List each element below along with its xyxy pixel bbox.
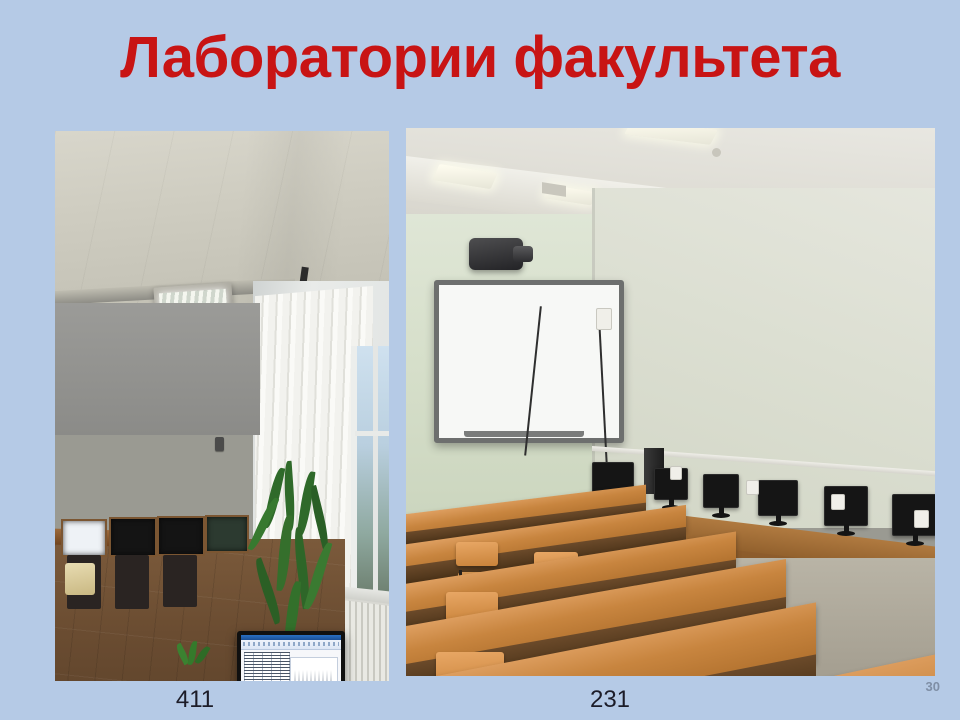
wall-outlet[interactable]	[596, 308, 612, 330]
whiteboard-pen-tray	[464, 431, 584, 437]
projector-lens-icon	[513, 246, 533, 262]
wall-monitor	[703, 474, 739, 508]
grey-wall	[55, 303, 260, 435]
wall-speaker-icon	[215, 437, 224, 451]
wall-outlet[interactable]	[831, 494, 845, 510]
photo-caption-231: 231	[406, 686, 814, 714]
back-row-chair	[115, 555, 149, 609]
short-throw-projector-icon	[469, 238, 523, 270]
ceiling	[55, 131, 389, 303]
slide-number: 30	[926, 679, 940, 694]
potted-plant	[251, 461, 361, 651]
wall-outlet[interactable]	[746, 480, 759, 495]
back-row-monitor	[61, 519, 107, 557]
spreadsheet-bar-chart	[290, 657, 338, 681]
wall-monitor	[758, 480, 798, 516]
back-row-monitor	[109, 517, 157, 557]
back-row-chair	[163, 555, 197, 607]
wall-outlet[interactable]	[670, 466, 682, 480]
monitor-screen	[241, 635, 341, 681]
photo-lab-411	[55, 131, 389, 681]
wall-outlet[interactable]	[914, 510, 929, 528]
window-frame-right	[373, 346, 378, 596]
slide: Лаборатории факультета	[0, 0, 960, 720]
back-row-monitor	[157, 516, 205, 556]
ceiling-smoke-detector-icon	[712, 148, 721, 157]
photo-caption-411: 411	[0, 686, 390, 714]
window-mullion	[355, 431, 389, 436]
page-title: Лаборатории факультета	[0, 26, 960, 90]
spreadsheet-data-table	[244, 652, 290, 681]
foreground-monitor	[237, 631, 345, 681]
bag-on-chair	[65, 563, 95, 595]
small-plant-on-floor	[175, 641, 211, 669]
photo-lab-231	[406, 128, 935, 676]
screen-toolbar	[241, 640, 341, 650]
back-row-monitor	[205, 515, 249, 553]
